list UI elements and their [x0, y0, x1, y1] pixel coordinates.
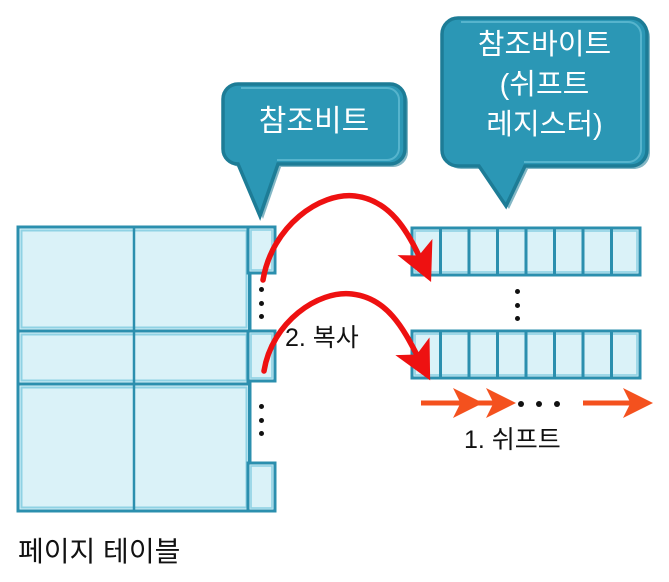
- page-table-ellipsis-1: [256, 287, 266, 319]
- page-table-caption: 페이지 테이블: [18, 530, 180, 570]
- shift-register-ellipsis: [512, 289, 522, 321]
- dot: [554, 401, 560, 407]
- callout-reference-bit: [223, 84, 408, 219]
- reference-bit-box-2: [248, 331, 275, 381]
- dot: [259, 301, 264, 306]
- dot: [259, 404, 264, 409]
- shift-arrow-ellipsis: [518, 400, 560, 408]
- page-table-row-1: [18, 227, 275, 331]
- dot: [259, 314, 264, 319]
- dot: [515, 289, 520, 294]
- dot: [536, 401, 542, 407]
- page-table-row-2: [18, 331, 275, 384]
- shift-register-bottom: [412, 331, 640, 378]
- shapes-layer: [0, 0, 669, 582]
- dot: [259, 431, 264, 436]
- page-table: [18, 227, 275, 511]
- page-table-row-3: [18, 384, 275, 511]
- dot: [259, 418, 264, 423]
- callout-reference-byte: [442, 18, 650, 209]
- diagram-canvas: 참조비트 참조바이트 (쉬프트 레지스터) 2. 복사 1. 쉬프트 페이지 테…: [0, 0, 669, 582]
- dot: [515, 303, 520, 308]
- dot: [515, 316, 520, 321]
- shift-register-top: [412, 228, 640, 275]
- page-table-ellipsis-2: [256, 404, 266, 436]
- shift-step-label: 1. 쉬프트: [464, 420, 561, 456]
- dot: [518, 401, 524, 407]
- reference-bit-box-3: [248, 463, 275, 511]
- copy-arrow-top: [263, 196, 420, 280]
- copy-step-label: 2. 복사: [285, 318, 359, 354]
- dot: [259, 287, 264, 292]
